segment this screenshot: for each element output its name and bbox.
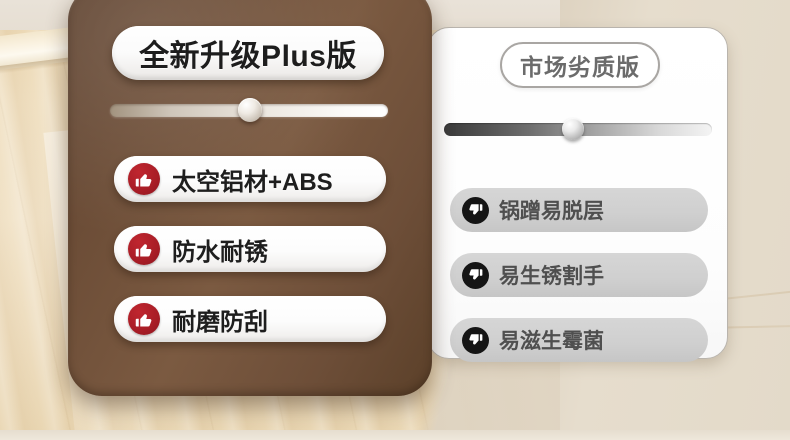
market-version-quality-slider[interactable] — [444, 123, 712, 136]
plus-version-card[interactable]: 全新升级Plus版 太空铝材+ABS 防水耐锈 — [68, 0, 432, 396]
background-bottom-band — [0, 430, 790, 440]
slider-knob[interactable] — [238, 98, 262, 122]
thumb-down-icon — [462, 197, 489, 224]
list-item-label: 锅蹭易脱层 — [499, 195, 604, 225]
thumb-down-icon — [462, 327, 489, 354]
list-item[interactable]: 防水耐锈 — [114, 226, 386, 272]
plus-version-quality-slider[interactable] — [110, 104, 388, 117]
list-item[interactable]: 耐磨防刮 — [114, 296, 386, 342]
list-item-label: 太空铝材+ABS — [172, 162, 333, 197]
market-version-title-chip: 市场劣质版 — [500, 42, 660, 88]
thumb-up-icon — [128, 233, 160, 265]
list-item[interactable]: 易生锈割手 — [450, 253, 708, 297]
thumb-down-icon — [462, 262, 489, 289]
market-version-card[interactable]: 市场劣质版 锅蹭易脱层 易生锈割手 — [427, 27, 728, 359]
product-comparison-graphic: 市场劣质版 锅蹭易脱层 易生锈割手 — [0, 0, 790, 440]
list-item[interactable]: 锅蹭易脱层 — [450, 188, 708, 232]
list-item-label: 易滋生霉菌 — [499, 325, 604, 355]
list-item-label: 耐磨防刮 — [172, 302, 268, 337]
list-item[interactable]: 易滋生霉菌 — [450, 318, 708, 362]
slider-knob[interactable] — [562, 118, 584, 140]
plus-version-title-chip: 全新升级Plus版 — [112, 26, 384, 80]
list-item-label: 防水耐锈 — [172, 232, 268, 267]
market-version-title: 市场劣质版 — [520, 48, 640, 82]
thumb-up-icon — [128, 303, 160, 335]
thumb-up-icon — [128, 163, 160, 195]
list-item[interactable]: 太空铝材+ABS — [114, 156, 386, 202]
plus-version-title: 全新升级Plus版 — [139, 31, 357, 75]
list-item-label: 易生锈割手 — [499, 260, 604, 290]
